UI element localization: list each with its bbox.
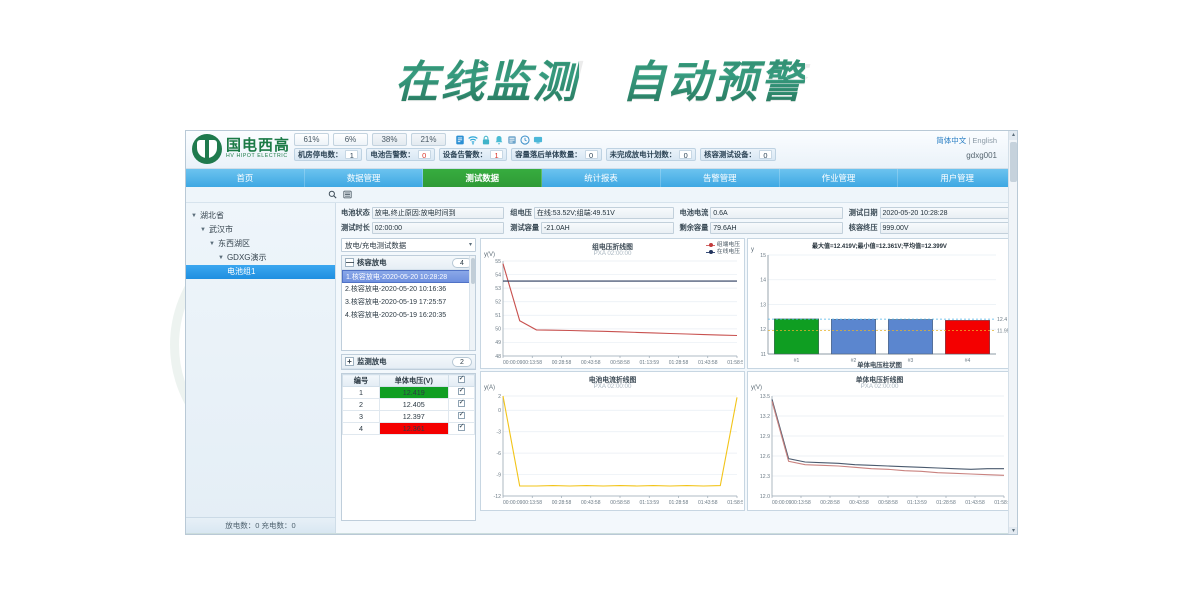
table-row[interactable]: 4 12.361 xyxy=(343,423,475,435)
field-value[interactable]: 在线:53.52V;组端:49.51V xyxy=(534,207,674,219)
page-root: 国电西高 HV HIPOT ELECTRIC 在线监测 自动预警 国电西高 HV… xyxy=(0,0,1200,600)
main-split: 放电/充电测试数据 — 核容放电 4 1.核容放电-2020-05-20 10:… xyxy=(341,238,1012,521)
field-remaining-capacity: 剩余容量 79.6AH xyxy=(680,222,843,234)
svg-text:01:58:58: 01:58:58 xyxy=(727,360,743,366)
list-icon[interactable] xyxy=(343,190,352,199)
chart-footer-title: 单体电压柱状图 xyxy=(748,360,1011,369)
counter-row: 机房停电数： 1 电池告警数： 0 设备告警数： 1 容量落后单体数量： 0 xyxy=(294,148,776,161)
sub-toolbar xyxy=(186,187,1017,203)
data-type-select[interactable]: 放电/充电测试数据 xyxy=(341,238,476,252)
tree-node-label: 湖北省 xyxy=(200,209,224,223)
app-header: 国电西高 HV HIPOT ELECTRIC 61% 6% 38% 21% xyxy=(186,131,1017,169)
svg-text:00:43:58: 00:43:58 xyxy=(849,500,869,506)
tree-node-label: 东西湖区 xyxy=(218,237,250,251)
list-item[interactable]: 4.核容放电-2020-05-19 16:20:35 xyxy=(342,309,475,322)
nav-item-alarm-management[interactable]: 告警管理 xyxy=(661,169,780,187)
tree-node-label: GDXG演示 xyxy=(227,251,267,265)
field-end-voltage: 核容终压 999.00V xyxy=(849,222,1012,234)
cell-check[interactable] xyxy=(448,399,474,411)
counter-value: 0 xyxy=(585,150,598,159)
nav-item-data-management[interactable]: 数据管理 xyxy=(305,169,424,187)
counter-value: 0 xyxy=(679,150,692,159)
checkbox-icon[interactable] xyxy=(458,400,465,407)
checkbox-icon[interactable] xyxy=(458,424,465,431)
svg-text:0: 0 xyxy=(498,408,501,414)
checkbox-icon[interactable] xyxy=(458,412,465,419)
counter-label: 核容测试设备： xyxy=(704,149,756,160)
field-test-date: 测试日期 2020-05-20 10:28:28 xyxy=(849,207,1012,219)
svg-text:52: 52 xyxy=(495,300,501,306)
header-icon-group xyxy=(455,135,543,145)
charts-area: 组电压折线图 PXA 02:00:00 y(V) 组端电压 在线电压 55545… xyxy=(480,238,1012,521)
tree-node-district[interactable]: ▼东西湖区 xyxy=(189,237,332,251)
counter-label: 机房停电数： xyxy=(298,149,342,160)
svg-text:00:43:58: 00:43:58 xyxy=(581,500,601,506)
battery-report-icon[interactable] xyxy=(455,135,465,145)
wifi-icon[interactable] xyxy=(468,135,478,145)
chevron-down-icon: ▼ xyxy=(191,209,197,223)
language-cn-link[interactable]: 简体中文 xyxy=(936,136,966,145)
chart-group-voltage[interactable]: 组电压折线图 PXA 02:00:00 y(V) 组端电压 在线电压 55545… xyxy=(480,238,745,369)
svg-text:-12: -12 xyxy=(494,494,502,500)
field-battery-current: 电池电流 0.6A xyxy=(680,207,843,219)
monitor-icon[interactable] xyxy=(533,135,543,145)
percent-badge-1[interactable]: 61% xyxy=(294,133,329,146)
chart-cell-voltage-line[interactable]: 单体电压折线图 PXA 02:00:00 y(V) 13.513.212.912… xyxy=(747,371,1012,511)
chart-battery-current[interactable]: 电池电流折线图 PXA 02:00:00 y(A) 20-3-6-9-1200:… xyxy=(480,371,745,511)
nav-item-statistics[interactable]: 统计报表 xyxy=(542,169,661,187)
records-panel: 放电/充电测试数据 — 核容放电 4 1.核容放电-2020-05-20 10:… xyxy=(341,238,476,521)
tree-node-label: 武汉市 xyxy=(209,223,233,237)
cell-voltage: 12.419 xyxy=(379,387,448,399)
cell-no: 4 xyxy=(343,423,380,435)
status-bar: 湖北省-武汉市-BTS-东西湖区-GDXG演示在2020-06-23 17: xyxy=(186,533,1017,535)
checkbox-all-icon[interactable] xyxy=(458,376,465,383)
svg-text:01:43:58: 01:43:58 xyxy=(698,500,718,506)
svg-text:00:58:58: 00:58:58 xyxy=(610,360,630,366)
brand-name-cn: 国电西高 xyxy=(226,138,290,154)
cell-no: 1 xyxy=(343,387,380,399)
record-group-discharge-header[interactable]: — 核容放电 4 xyxy=(342,256,475,270)
field-label: 测试日期 xyxy=(849,208,878,218)
search-icon[interactable] xyxy=(328,190,337,199)
svg-text:01:13:59: 01:13:59 xyxy=(640,360,660,366)
svg-text:48: 48 xyxy=(495,354,501,360)
svg-text:13.5: 13.5 xyxy=(760,394,770,400)
column-header-check[interactable] xyxy=(448,375,474,387)
list-item[interactable]: 3.核容放电-2020-05-19 17:25:57 xyxy=(342,296,475,309)
svg-text:12.0: 12.0 xyxy=(760,494,770,500)
chart-canvas: 13.513.212.912.612.312.000:00:0900:13:58… xyxy=(748,372,1010,511)
svg-text:00:58:58: 00:58:58 xyxy=(610,500,630,506)
svg-text:00:00:09: 00:00:09 xyxy=(503,360,523,366)
svg-text:01:58:58: 01:58:58 xyxy=(727,500,743,506)
svg-text:51: 51 xyxy=(495,313,501,319)
svg-text:12.6: 12.6 xyxy=(760,454,770,460)
chart-canvas: 555453525150494800:00:0900:13:5800:28:58… xyxy=(481,239,743,369)
field-value[interactable]: -21.0AH xyxy=(541,222,673,234)
tree-footer-status: 放电数：0 充电数：0 xyxy=(186,517,335,533)
svg-text:00:00:09: 00:00:09 xyxy=(503,500,523,506)
field-battery-state: 电池状态 放电,终止原因:放电时间到 xyxy=(341,207,504,219)
expand-icon[interactable]: + xyxy=(345,357,354,366)
current-user[interactable]: gdxg001 xyxy=(966,151,997,160)
svg-text:14: 14 xyxy=(760,278,766,284)
field-label: 组电压 xyxy=(510,208,532,218)
tree-node-label: 电池组1 xyxy=(227,265,255,279)
percent-badge-2[interactable]: 6% xyxy=(333,133,368,146)
svg-text:-9: -9 xyxy=(496,472,501,478)
field-label: 电池电流 xyxy=(680,208,709,218)
nav-item-home[interactable]: 首页 xyxy=(186,169,305,187)
cell-check[interactable] xyxy=(448,411,474,423)
table-row[interactable]: 3 12.397 xyxy=(343,411,475,423)
cell-voltage-table-panel: 编号 单体电压(V) 1 12.419 xyxy=(341,373,476,521)
cell-voltage: 12.405 xyxy=(379,399,448,411)
clock-icon[interactable] xyxy=(520,135,530,145)
collapse-icon[interactable]: — xyxy=(345,258,354,267)
app-body: ▼湖北省 ▼武汉市 ▼东西湖区 ▼GDXG演示 电池组1 放电数：0 充电数：0… xyxy=(186,203,1017,533)
wind-turbine-logo-icon xyxy=(192,134,222,164)
counter-test-devices[interactable]: 核容测试设备： 0 xyxy=(700,148,776,161)
field-value[interactable]: 0.6A xyxy=(710,207,842,219)
lock-icon[interactable] xyxy=(481,135,491,145)
percent-row: 61% 6% 38% 21% xyxy=(294,133,776,146)
location-tree: ▼湖北省 ▼武汉市 ▼东西湖区 ▼GDXG演示 电池组1 xyxy=(186,203,335,285)
svg-text:-6: -6 xyxy=(496,451,501,457)
svg-text:13: 13 xyxy=(760,302,766,308)
svg-text:12.9: 12.9 xyxy=(760,434,770,440)
checkbox-icon[interactable] xyxy=(458,388,465,395)
tree-node-site[interactable]: ▼GDXG演示 xyxy=(189,251,332,265)
tree-node-battery-group[interactable]: 电池组1 xyxy=(186,265,335,279)
counter-label: 未完成放电计划数： xyxy=(610,149,677,160)
percent-badge-4[interactable]: 21% xyxy=(411,133,446,146)
chevron-down-icon: ▼ xyxy=(209,237,215,251)
svg-text:00:13:58: 00:13:58 xyxy=(791,500,811,506)
svg-text:01:28:58: 01:28:58 xyxy=(936,500,956,506)
svg-text:15: 15 xyxy=(760,253,766,259)
bell-icon[interactable] xyxy=(494,135,504,145)
counter-label: 电池告警数： xyxy=(370,149,414,160)
test-info-form: 电池状态 放电,终止原因:放电时间到 组电压 在线:53.52V;组端:49.5… xyxy=(341,207,1012,234)
tree-node-province[interactable]: ▼湖北省 xyxy=(189,209,332,223)
scrollbar-thumb[interactable] xyxy=(1010,142,1017,182)
server-icon[interactable] xyxy=(507,135,517,145)
record-group-label: 核容放电 xyxy=(357,257,387,268)
charts-row-bottom: 电池电流折线图 PXA 02:00:00 y(A) 20-3-6-9-1200:… xyxy=(480,371,1012,511)
counter-value: 0 xyxy=(418,150,431,159)
chevron-down-icon: ▼ xyxy=(200,223,206,237)
svg-text:12.3: 12.3 xyxy=(760,474,770,480)
svg-text:01:28:58: 01:28:58 xyxy=(669,500,689,506)
field-label: 剩余容量 xyxy=(680,223,709,233)
counter-lagging-cells[interactable]: 容量落后单体数量： 0 xyxy=(511,148,602,161)
scroll-down-icon[interactable]: ▾ xyxy=(1009,527,1018,535)
svg-text:01:28:58: 01:28:58 xyxy=(669,360,689,366)
cell-check[interactable] xyxy=(448,423,474,435)
field-test-capacity: 测试容量 -21.0AH xyxy=(510,222,673,234)
tree-node-city[interactable]: ▼武汉市 xyxy=(189,223,332,237)
svg-text:00:00:09: 00:00:09 xyxy=(772,500,792,506)
records-scrollbar[interactable] xyxy=(469,256,475,350)
chevron-down-icon: ▼ xyxy=(218,251,224,265)
svg-text:2: 2 xyxy=(498,394,501,400)
list-item[interactable]: 2.核容放电-2020-05-20 10:16:36 xyxy=(342,283,475,296)
record-group-label: 监测放电 xyxy=(357,356,387,367)
column-header-no: 编号 xyxy=(343,375,380,387)
table-header-row: 编号 单体电压(V) xyxy=(343,375,475,387)
records-listbox: — 核容放电 4 1.核容放电-2020-05-20 10:28:28 2.核容… xyxy=(341,255,476,351)
svg-text:01:13:59: 01:13:59 xyxy=(640,500,660,506)
svg-text:53: 53 xyxy=(495,286,501,292)
list-item[interactable]: 1.核容放电-2020-05-20 10:28:28 xyxy=(342,270,475,283)
counter-battery-alarm[interactable]: 电池告警数： 0 xyxy=(366,148,434,161)
application-window: 国电西高 HV HIPOT ELECTRIC 61% 6% 38% 21% xyxy=(185,130,1018,535)
counter-power-outage[interactable]: 机房停电数： 1 xyxy=(294,148,362,161)
field-value[interactable]: 79.6AH xyxy=(710,222,842,234)
record-group-count: 2 xyxy=(452,357,472,367)
table-row[interactable]: 2 12.405 xyxy=(343,399,475,411)
window-scrollbar[interactable]: ▴ ▾ xyxy=(1008,131,1017,535)
language-en-link[interactable]: English xyxy=(972,136,997,145)
svg-text:12: 12 xyxy=(760,327,766,333)
hero-title-left: 在线监测 xyxy=(395,46,579,110)
hero-title: 在线监测 自动预警 xyxy=(0,46,1200,110)
content-area: 电池状态 放电,终止原因:放电时间到 组电压 在线:53.52V;组端:49.5… xyxy=(336,203,1017,533)
svg-text:-3: -3 xyxy=(496,430,501,436)
cell-no: 3 xyxy=(343,411,380,423)
svg-text:12.4: 12.4 xyxy=(997,317,1007,323)
chart-canvas: 1514131211#1#2#3#412.411.95 xyxy=(748,239,1010,369)
brand: 国电西高 HV HIPOT ELECTRIC xyxy=(192,134,290,164)
field-label: 核容终压 xyxy=(849,223,878,233)
svg-text:54: 54 xyxy=(495,272,501,278)
location-tree-panel: ▼湖北省 ▼武汉市 ▼东西湖区 ▼GDXG演示 电池组1 放电数：0 充电数：0 xyxy=(186,203,336,533)
svg-text:00:13:58: 00:13:58 xyxy=(523,360,543,366)
svg-text:01:43:58: 01:43:58 xyxy=(698,360,718,366)
svg-text:55: 55 xyxy=(495,259,501,265)
svg-text:01:13:59: 01:13:59 xyxy=(907,500,927,506)
counter-label: 容量落后单体数量： xyxy=(515,149,582,160)
svg-text:00:28:58: 00:28:58 xyxy=(820,500,840,506)
record-group-monitor-header[interactable]: + 监测放电 2 xyxy=(342,355,475,369)
cell-voltage: 12.397 xyxy=(379,411,448,423)
counter-value: 0 xyxy=(759,150,772,159)
svg-text:00:13:58: 00:13:58 xyxy=(523,500,543,506)
svg-text:00:28:58: 00:28:58 xyxy=(552,500,572,506)
status-bar-text: 湖北省-武汉市-BTS-东西湖区-GDXG演示在2020-06-23 17: xyxy=(824,534,1001,535)
nav-item-job-management[interactable]: 作业管理 xyxy=(780,169,899,187)
column-header-voltage: 单体电压(V) xyxy=(379,375,448,387)
counter-value: 1 xyxy=(490,150,503,159)
cell-no: 2 xyxy=(343,399,380,411)
counter-label: 设备告警数： xyxy=(443,149,487,160)
svg-text:50: 50 xyxy=(495,327,501,333)
cell-check[interactable] xyxy=(448,387,474,399)
svg-text:01:43:58: 01:43:58 xyxy=(965,500,985,506)
scroll-up-icon[interactable]: ▴ xyxy=(1009,131,1018,140)
nav-item-test-data[interactable]: 测试数据 xyxy=(423,169,542,187)
chart-cell-voltage-bar[interactable]: 最大值=12.419V;最小值=12.361V;平均值=12.399V y 15… xyxy=(747,238,1012,369)
counter-unfinished-plans[interactable]: 未完成放电计划数： 0 xyxy=(606,148,697,161)
field-group-voltage: 组电压 在线:53.52V;组端:49.51V xyxy=(510,207,673,219)
svg-text:00:43:58: 00:43:58 xyxy=(581,360,601,366)
field-label: 电池状态 xyxy=(341,208,370,218)
svg-text:00:58:58: 00:58:58 xyxy=(878,500,898,506)
svg-text:11: 11 xyxy=(761,352,766,358)
field-label: 测试时长 xyxy=(341,223,370,233)
counter-device-alarm[interactable]: 设备告警数： 1 xyxy=(439,148,507,161)
toolbar-icons xyxy=(328,190,352,199)
scrollbar-thumb[interactable] xyxy=(471,258,475,284)
nav-item-user-management[interactable]: 用户管理 xyxy=(898,169,1017,187)
field-value[interactable]: 放电,终止原因:放电时间到 xyxy=(372,207,504,219)
cell-voltage-table: 编号 单体电压(V) 1 12.419 xyxy=(342,374,475,435)
svg-text:13.2: 13.2 xyxy=(760,414,770,420)
cell-voltage: 12.361 xyxy=(379,423,448,435)
svg-text:49: 49 xyxy=(495,340,501,346)
chart-canvas: 20-3-6-9-1200:00:0900:13:5800:28:5800:43… xyxy=(481,372,743,511)
field-value[interactable]: 999.00V xyxy=(880,222,1012,234)
field-value[interactable]: 2020-05-20 10:28:28 xyxy=(880,207,1012,219)
record-group-monitor: + 监测放电 2 xyxy=(341,354,476,370)
percent-badge-3[interactable]: 38% xyxy=(372,133,407,146)
header-stats: 61% 6% 38% 21% 机 xyxy=(294,133,776,161)
counter-value: 1 xyxy=(345,150,358,159)
field-label: 测试容量 xyxy=(510,223,539,233)
charts-row-top: 组电压折线图 PXA 02:00:00 y(V) 组端电压 在线电压 55545… xyxy=(480,238,1012,369)
hero-title-right: 自动预警 xyxy=(621,46,805,110)
svg-text:00:28:58: 00:28:58 xyxy=(552,360,572,366)
language-switch: 简体中文 | English xyxy=(936,135,997,146)
field-value[interactable]: 02:00:00 xyxy=(372,222,504,234)
table-row[interactable]: 1 12.419 xyxy=(343,387,475,399)
field-test-duration: 测试时长 02:00:00 xyxy=(341,222,504,234)
main-navigation: 首页 数据管理 测试数据 统计报表 告警管理 作业管理 用户管理 xyxy=(186,169,1017,187)
brand-name-en: HV HIPOT ELECTRIC xyxy=(226,154,290,159)
